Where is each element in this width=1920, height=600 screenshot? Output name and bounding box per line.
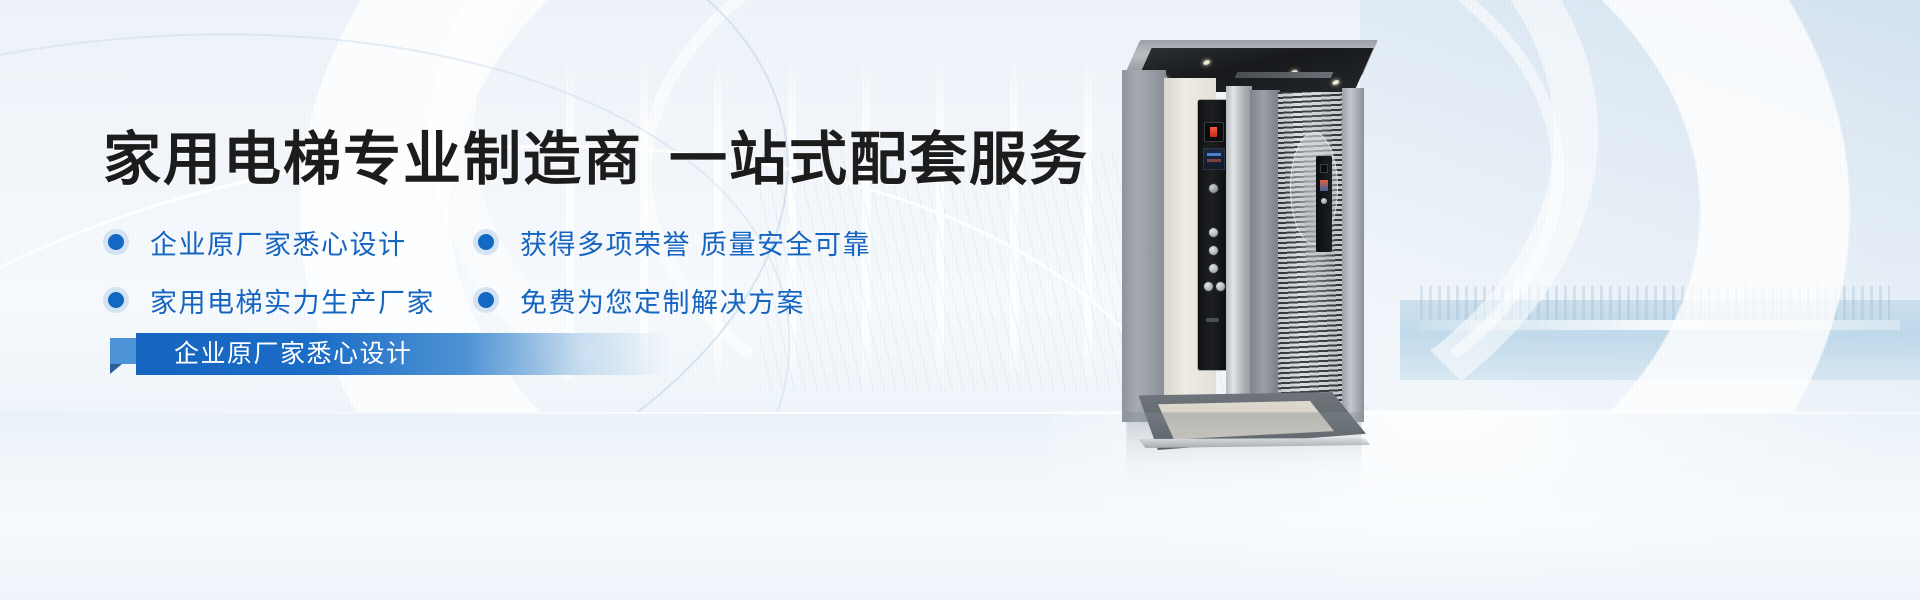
control-panel-display: [1203, 148, 1225, 170]
bullet-row: 企业原厂家悉心设计 获得多项荣誉 质量安全可靠: [108, 213, 1008, 271]
bullet-label: 免费为您定制解决方案: [520, 281, 805, 320]
bullet-dot-icon: [478, 292, 494, 308]
feature-bullet-list: 企业原厂家悉心设计 获得多项荣誉 质量安全可靠 家用电梯实力生产厂家 免费为您定…: [108, 213, 1008, 329]
door-close-button-icon: [1216, 282, 1225, 291]
emergency-button-icon: [1209, 184, 1218, 193]
page-title: 家用电梯专业制造商一站式配套服务: [103, 112, 1089, 196]
cabin-mid-steel-panel: [1226, 86, 1252, 424]
highlight-ribbon: 企业原厂家悉心设计: [110, 333, 670, 375]
floor-button-icon: [1209, 264, 1218, 273]
cabin-mirrored-back-wall: [1278, 92, 1344, 422]
floor-button-icon: [1209, 246, 1218, 255]
ceiling-spotlight-icon: [1202, 60, 1211, 65]
ceiling-light-strip: [1235, 72, 1334, 78]
bullet-label: 获得多项荣誉 质量安全可靠: [520, 223, 871, 262]
reflected-control-panel: [1316, 156, 1332, 252]
bullet-label: 家用电梯实力生产厂家: [150, 281, 435, 320]
cabin-left-steel-panel: [1122, 70, 1166, 422]
elevator-floor-reflection: [1126, 412, 1362, 504]
cabin-mid-steel-panel-2: [1250, 90, 1280, 426]
ribbon-label: 企业原厂家悉心设计: [174, 333, 413, 375]
headline-part-2: 一站式配套服务: [669, 127, 1089, 192]
home-elevator-cabin: [1118, 40, 1368, 420]
floor-button-icon: [1209, 228, 1218, 237]
list-item: 企业原厂家悉心设计: [108, 223, 478, 262]
headline-part-1: 家用电梯专业制造商: [103, 127, 643, 192]
bullet-label: 企业原厂家悉心设计: [150, 223, 407, 262]
banner-copy: 家用电梯专业制造商一站式配套服务 企业原厂家悉心设计 获得多项荣誉 质量安全可靠…: [0, 0, 1100, 600]
bullet-dot-icon: [108, 234, 124, 250]
door-open-button-icon: [1204, 282, 1213, 291]
list-item: 获得多项荣誉 质量安全可靠: [478, 223, 998, 262]
control-panel-logo: [1206, 318, 1219, 322]
elevator-control-panel: [1198, 100, 1228, 370]
bullet-row: 家用电梯实力生产厂家 免费为您定制解决方案: [108, 271, 1008, 329]
list-item: 家用电梯实力生产厂家: [108, 281, 478, 320]
bullet-dot-icon: [108, 292, 124, 308]
ceiling-spotlight-icon: [1331, 80, 1340, 85]
reflected-button-icon: [1321, 198, 1327, 204]
cabin-right-steel-panel: [1342, 88, 1364, 422]
floor-indicator-led: [1204, 122, 1224, 142]
list-item: 免费为您定制解决方案: [478, 281, 998, 320]
promo-banner: 家用电梯专业制造商一站式配套服务 企业原厂家悉心设计 获得多项荣誉 质量安全可靠…: [0, 0, 1920, 600]
bullet-dot-icon: [478, 234, 494, 250]
